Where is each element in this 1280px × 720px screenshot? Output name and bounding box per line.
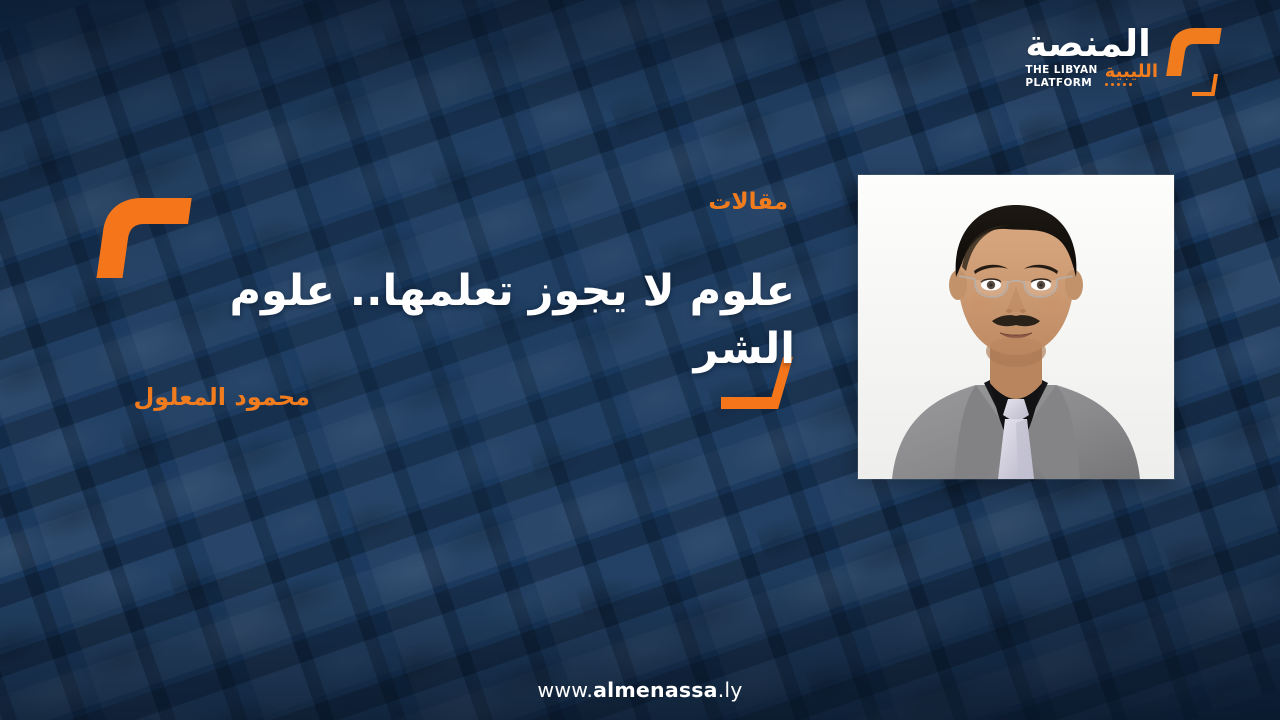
url-prefix: www. (537, 678, 593, 702)
orange-hook-icon (1166, 26, 1222, 76)
url-tld: .ly (718, 678, 743, 702)
article-card: المنصة الليبية THE LIBYAN PLATFORM مقالا… (0, 0, 1280, 720)
article-author: محمود المعلول (133, 383, 310, 411)
logo-mark (1164, 26, 1222, 100)
article-headline: علوم لا يجوز تعلمها.. علوم الشر (135, 262, 795, 378)
author-portrait (858, 175, 1174, 479)
logo-english-line1: THE LIBYAN (1025, 64, 1097, 76)
url-name: almenassa (593, 678, 718, 702)
article-category: مقالات (708, 189, 788, 215)
site-logo[interactable]: المنصة الليبية THE LIBYAN PLATFORM (1025, 22, 1222, 100)
footer-website-url[interactable]: www.almenassa.ly (0, 678, 1280, 702)
logo-dots-decoration (1105, 83, 1132, 86)
logo-english-line2: PLATFORM (1025, 77, 1097, 89)
logo-arabic-subtitle: الليبية (1105, 63, 1158, 81)
portrait-illustration (858, 175, 1174, 479)
logo-wordmark: المنصة الليبية THE LIBYAN PLATFORM (1025, 22, 1158, 89)
logo-english-text: THE LIBYAN PLATFORM (1025, 63, 1097, 89)
orange-corner-icon (1192, 74, 1218, 96)
logo-arabic-name: المنصة (1025, 26, 1150, 62)
